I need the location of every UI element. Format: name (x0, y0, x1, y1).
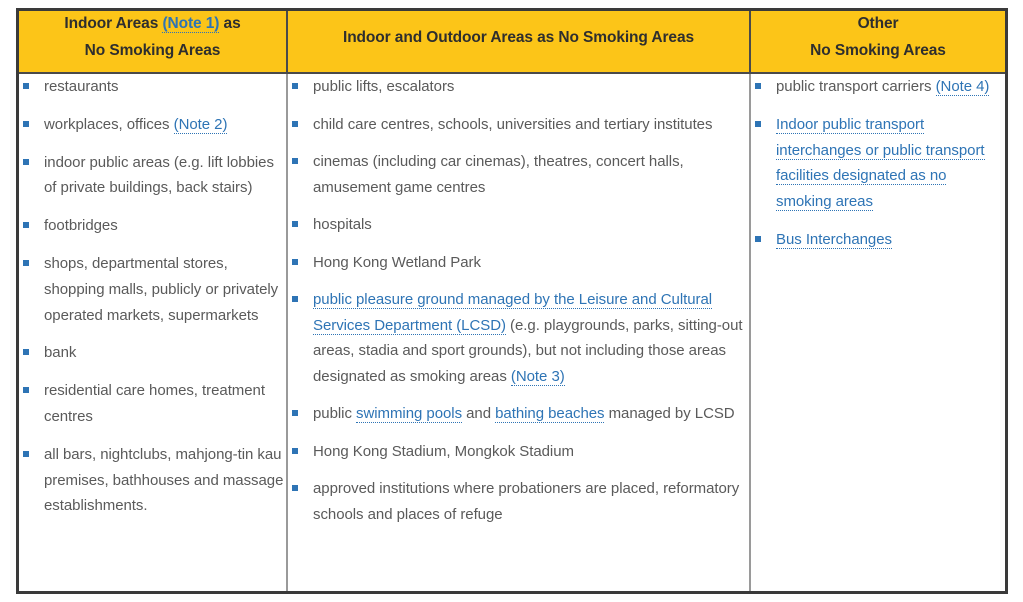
cell-other: public transport carriers (Note 4)Indoor… (750, 73, 1005, 591)
list-item: indoor public areas (e.g. lift lobbies o… (19, 150, 286, 202)
list-item: approved institutions where probationers… (288, 476, 749, 527)
column-header-other: Other No Smoking Areas (750, 11, 1005, 73)
list-item-text: residential care homes, treatment centre… (44, 382, 265, 425)
list-item: cinemas (including car cinemas), theatre… (288, 149, 749, 200)
header-row: Indoor Areas (Note 1) as No Smoking Area… (19, 11, 1005, 73)
list-item: child care centres, schools, universitie… (288, 112, 749, 138)
header-text-after: as (219, 15, 240, 32)
table: Indoor Areas (Note 1) as No Smoking Area… (19, 11, 1005, 591)
header-text-before: Indoor Areas (64, 15, 162, 32)
header-line-2: No Smoking Areas (751, 38, 1005, 65)
list-item-text: public lifts, escalators (313, 78, 454, 95)
list-item-text: restaurants (44, 78, 119, 95)
list-item: restaurants (19, 74, 286, 100)
list-item-text: public (313, 405, 356, 422)
list-indoor-areas: restaurantsworkplaces, offices (Note 2)i… (19, 74, 286, 519)
list-item-text: cinemas (including car cinemas), theatre… (313, 153, 684, 196)
list-item: all bars, nightclubs, mahjong-tin kau pr… (19, 442, 286, 519)
list-item-text: child care centres, schools, universitie… (313, 116, 712, 133)
list-item-text: footbridges (44, 217, 118, 234)
column-header-indoor-areas: Indoor Areas (Note 1) as No Smoking Area… (19, 11, 287, 73)
list-item-text: Hong Kong Stadium, Mongkok Stadium (313, 443, 574, 460)
list-item-text: workplaces, offices (44, 116, 174, 133)
header-line-2: No Smoking Areas (19, 38, 286, 65)
cell-indoor-areas: restaurantsworkplaces, offices (Note 2)i… (19, 73, 287, 591)
list-item: public pleasure ground managed by the Le… (288, 287, 749, 389)
list-item-text: managed by LCSD (604, 405, 734, 422)
note-1-link[interactable]: (Note 1) (162, 15, 219, 33)
list-item-text: hospitals (313, 216, 372, 233)
list-item-text: and (462, 405, 495, 422)
list-item: public lifts, escalators (288, 74, 749, 100)
list-item: footbridges (19, 213, 286, 239)
list-item: public transport carriers (Note 4) (751, 74, 1005, 100)
list-item: bank (19, 340, 286, 366)
table-row: restaurantsworkplaces, offices (Note 2)i… (19, 73, 1005, 591)
list-item-text: Hong Kong Wetland Park (313, 254, 481, 271)
table-body: restaurantsworkplaces, offices (Note 2)i… (19, 73, 1005, 591)
header-line-1: Other (751, 11, 1005, 38)
list-item-text: all bars, nightclubs, mahjong-tin kau pr… (44, 446, 283, 515)
inline-link[interactable]: bathing beaches (495, 405, 604, 423)
inline-link[interactable]: Bus Interchanges (776, 231, 892, 249)
list-item-text: bank (44, 344, 76, 361)
list-item-text: shops, departmental stores, shopping mal… (44, 255, 278, 324)
list-item: public swimming pools and bathing beache… (288, 401, 749, 427)
header-line-1: Indoor and Outdoor Areas as No Smoking A… (288, 11, 749, 52)
column-header-indoor-and-outdoor-areas: Indoor and Outdoor Areas as No Smoking A… (287, 11, 750, 73)
list-item: residential care homes, treatment centre… (19, 378, 286, 430)
list-item-text: public transport carriers (776, 78, 936, 95)
list-item: Indoor public transport interchanges or … (751, 112, 1005, 215)
list-indoor-and-outdoor-areas: public lifts, escalatorschild care centr… (288, 74, 749, 527)
list-item-text: indoor public areas (e.g. lift lobbies o… (44, 154, 274, 197)
list-item: Hong Kong Wetland Park (288, 250, 749, 276)
list-item: Hong Kong Stadium, Mongkok Stadium (288, 439, 749, 465)
cell-indoor-and-outdoor-areas: public lifts, escalatorschild care centr… (287, 73, 750, 591)
list-item: hospitals (288, 212, 749, 238)
list-other: public transport carriers (Note 4)Indoor… (751, 74, 1005, 253)
inline-link[interactable]: (Note 2) (174, 116, 228, 134)
table-header: Indoor Areas (Note 1) as No Smoking Area… (19, 11, 1005, 73)
list-item: workplaces, offices (Note 2) (19, 112, 286, 138)
inline-link[interactable]: (Note 4) (936, 78, 990, 96)
no-smoking-areas-table: Indoor Areas (Note 1) as No Smoking Area… (16, 8, 1008, 594)
list-item-text: approved institutions where probationers… (313, 480, 739, 523)
inline-link[interactable]: (Note 3) (511, 368, 565, 386)
inline-link[interactable]: Indoor public transport interchanges or … (776, 116, 985, 211)
header-line-1: Indoor Areas (Note 1) as (19, 11, 286, 38)
page-root: Indoor Areas (Note 1) as No Smoking Area… (0, 0, 1023, 602)
list-item: shops, departmental stores, shopping mal… (19, 251, 286, 328)
list-item: Bus Interchanges (751, 227, 1005, 253)
inline-link[interactable]: swimming pools (356, 405, 462, 423)
